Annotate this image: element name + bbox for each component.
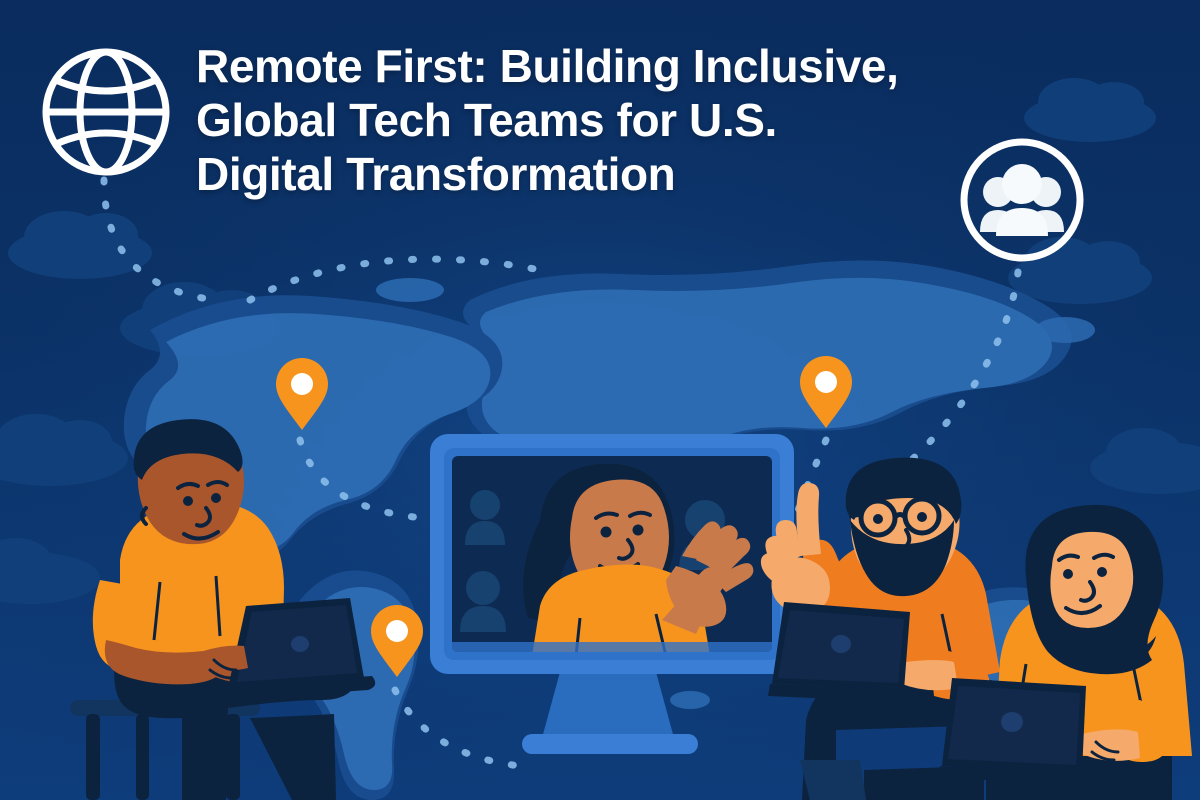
map-pin-asia[interactable] [800, 356, 852, 428]
map-pins-layer [0, 0, 1200, 800]
map-pin-north-america[interactable] [276, 358, 328, 430]
poster-canvas: Remote First: Building Inclusive, Global… [0, 0, 1200, 800]
map-pin-south-america[interactable] [371, 605, 423, 677]
